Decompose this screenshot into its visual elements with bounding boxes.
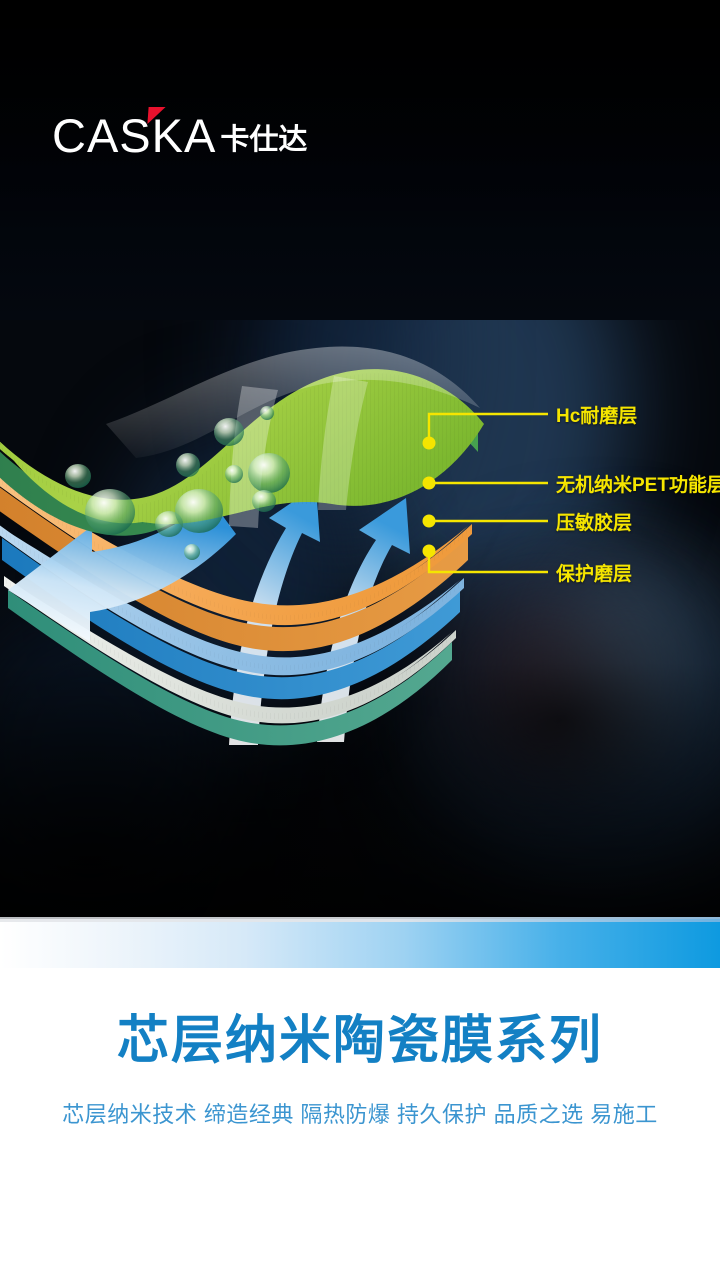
callout-leader-lines bbox=[429, 414, 548, 572]
band-gradient-fill bbox=[0, 922, 720, 968]
product-subline: 芯层纳米技术 缔造经典 隔热防爆 持久保护 品质之选 易施工 bbox=[0, 1100, 720, 1130]
callout-label-liner: 保护磨层 bbox=[556, 559, 632, 586]
callout-label-psa: 压敏胶层 bbox=[556, 508, 632, 535]
product-poster: CASKA 卡仕达 bbox=[0, 0, 720, 1280]
callout-anchor-dots bbox=[423, 437, 436, 558]
callout-group: Hc耐磨层 无机纳米PET功能层 压敏胶层 保护磨层 bbox=[0, 0, 720, 920]
callout-label-pet: 无机纳米PET功能层 bbox=[556, 470, 720, 497]
product-headline: 芯层纳米陶瓷膜系列 bbox=[0, 1012, 720, 1070]
gradient-divider-band bbox=[0, 917, 720, 973]
callout-label-hc: Hc耐磨层 bbox=[556, 401, 637, 428]
